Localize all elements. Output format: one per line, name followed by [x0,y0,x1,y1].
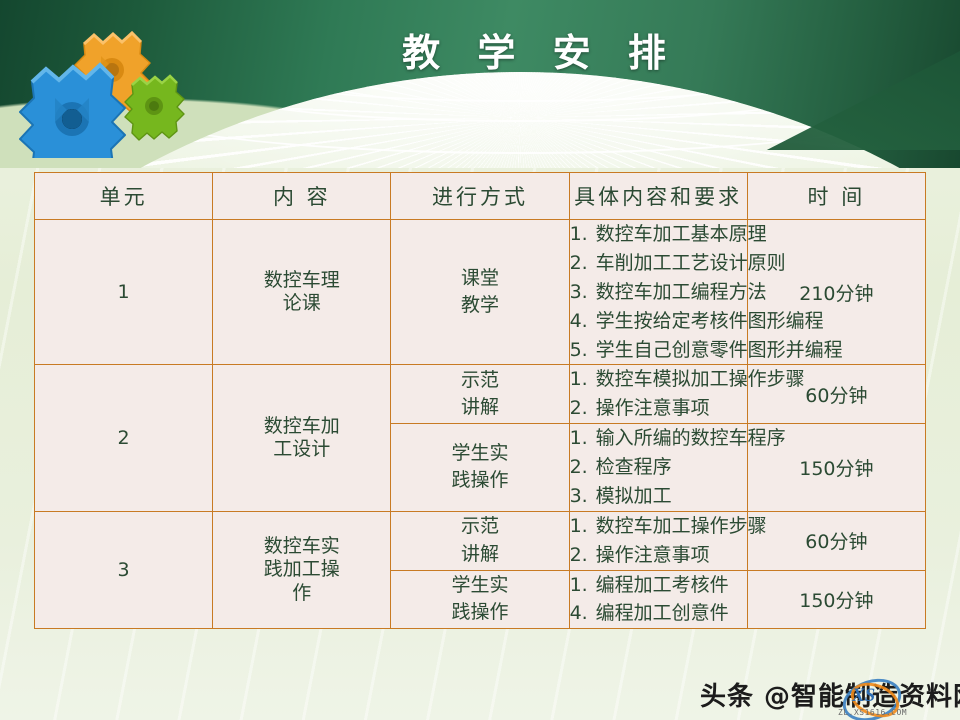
detail-line: 1.数控车加工基本原理 [570,220,747,249]
detail-text: 车削加工工艺设计原则 [596,252,786,274]
cell-unit: 2 [35,365,213,511]
detail-text: 学生按给定考核件图形编程 [596,310,824,332]
schedule-table-wrapper: 单元 内 容 进行方式 具体内容和要求 时 间 1数控车理论课课堂教学1.数控车… [34,172,926,629]
header-cell-time: 时 间 [747,173,925,220]
header-cell-unit: 单元 [35,173,213,220]
detail-line: 1.数控车模拟加工操作步骤 [570,365,747,394]
table-row: 3数控车实践加工操作示范讲解1.数控车加工操作步骤2.操作注意事项60分钟 [35,511,926,570]
cell-content: 数控车理论课 [213,220,391,365]
cell-detail: 1.数控车加工基本原理2.车削加工工艺设计原则3.数控车加工编程方法4.学生按给… [569,220,747,365]
header-cell-detail: 具体内容和要求 [569,173,747,220]
detail-line: 1.输入所编的数控车程序 [570,424,747,453]
detail-number: 2. [570,541,596,570]
detail-text: 操作注意事项 [596,397,710,419]
detail-text: 编程加工考核件 [596,574,729,596]
cell-content: 数控车加工设计 [213,365,391,511]
logo-mark: XS [852,685,875,707]
cell-method: 课堂教学 [391,220,569,365]
site-logo-watermark: XS ZL.XS1616.COM [836,678,922,718]
cell-detail: 1.数控车加工操作步骤2.操作注意事项 [569,511,747,570]
gear-green-icon [125,76,184,140]
cell-unit: 1 [35,220,213,365]
detail-line: 4.编程加工创意件 [570,599,747,628]
cell-unit: 3 [35,511,213,629]
detail-text: 学生自己创意零件图形并编程 [596,339,843,361]
table-row: 2数控车加工设计示范讲解1.数控车模拟加工操作步骤2.操作注意事项60分钟 [35,365,926,424]
table-header-row: 单元 内 容 进行方式 具体内容和要求 时 间 [35,173,926,220]
detail-line: 2.操作注意事项 [570,394,747,423]
detail-number: 4. [570,599,596,628]
detail-line: 3.数控车加工编程方法 [570,278,747,307]
slide-canvas: 教 学 安 排 智能制造资料网 单元 内 容 进行方式 具体内容和要求 时 间 … [0,0,960,720]
cell-method: 学生实践操作 [391,570,569,629]
table-row: 1数控车理论课课堂教学1.数控车加工基本原理2.车削加工工艺设计原则3.数控车加… [35,220,926,365]
detail-text: 输入所编的数控车程序 [596,427,786,449]
detail-number: 1. [570,365,596,394]
detail-line: 5.学生自己创意零件图形并编程 [570,336,747,365]
cell-time: 60分钟 [747,511,925,570]
detail-number: 1. [570,220,596,249]
detail-number: 1. [570,512,596,541]
detail-line: 1.编程加工考核件 [570,571,747,600]
header-cell-method: 进行方式 [391,173,569,220]
detail-text: 数控车加工操作步骤 [596,515,767,537]
detail-text: 数控车加工编程方法 [596,281,767,303]
gear-cluster-icon [8,8,198,158]
detail-text: 数控车模拟加工操作步骤 [596,368,805,390]
detail-number: 1. [570,424,596,453]
cell-time: 150分钟 [747,570,925,629]
detail-number: 3. [570,278,596,307]
cell-method: 示范讲解 [391,511,569,570]
detail-number: 3. [570,482,596,511]
slide-title: 教 学 安 排 [330,22,750,77]
logo-domain: ZL.XS1616.COM [838,708,907,717]
detail-number: 5. [570,336,596,365]
detail-line: 2.操作注意事项 [570,541,747,570]
detail-text: 操作注意事项 [596,544,710,566]
cell-method: 示范讲解 [391,365,569,424]
cell-detail: 1.数控车模拟加工操作步骤2.操作注意事项 [569,365,747,424]
detail-text: 数控车加工基本原理 [596,223,767,245]
gear-blue-icon [20,65,125,158]
detail-number: 2. [570,394,596,423]
teaching-schedule-table: 单元 内 容 进行方式 具体内容和要求 时 间 1数控车理论课课堂教学1.数控车… [34,172,926,629]
detail-text: 编程加工创意件 [596,602,729,624]
detail-line: 1.数控车加工操作步骤 [570,512,747,541]
detail-line: 2.车削加工工艺设计原则 [570,249,747,278]
cell-content: 数控车实践加工操作 [213,511,391,629]
header-cell-content: 内 容 [213,173,391,220]
detail-text: 模拟加工 [596,485,672,507]
cell-detail: 1.输入所编的数控车程序2.检查程序3.模拟加工 [569,424,747,512]
detail-line: 3.模拟加工 [570,482,747,511]
detail-number: 1. [570,571,596,600]
detail-number: 2. [570,453,596,482]
detail-line: 2.检查程序 [570,453,747,482]
detail-number: 4. [570,307,596,336]
cell-method: 学生实践操作 [391,424,569,512]
detail-text: 检查程序 [596,456,672,478]
detail-line: 4.学生按给定考核件图形编程 [570,307,747,336]
cell-detail: 1.编程加工考核件4.编程加工创意件 [569,570,747,629]
table-body: 1数控车理论课课堂教学1.数控车加工基本原理2.车削加工工艺设计原则3.数控车加… [35,220,926,629]
detail-number: 2. [570,249,596,278]
